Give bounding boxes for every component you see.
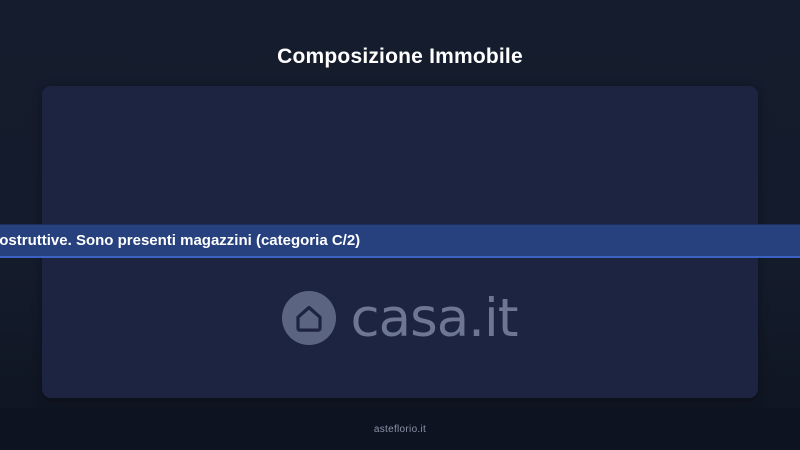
page-title: Composizione Immobile bbox=[0, 44, 800, 70]
footer-site-label: asteflorio.it bbox=[374, 424, 426, 435]
page-root: Composizione Immobile casa.it I corpi di… bbox=[0, 0, 800, 450]
banner-text: I corpi di fabbrica realizzati con diver… bbox=[0, 225, 360, 256]
scrolling-description-banner[interactable]: I corpi di fabbrica realizzati con diver… bbox=[0, 224, 800, 258]
casa-it-watermark: casa.it bbox=[42, 291, 758, 345]
house-icon bbox=[282, 291, 336, 345]
casa-it-wordmark: casa.it bbox=[350, 292, 517, 345]
site-footer: asteflorio.it bbox=[0, 408, 800, 450]
